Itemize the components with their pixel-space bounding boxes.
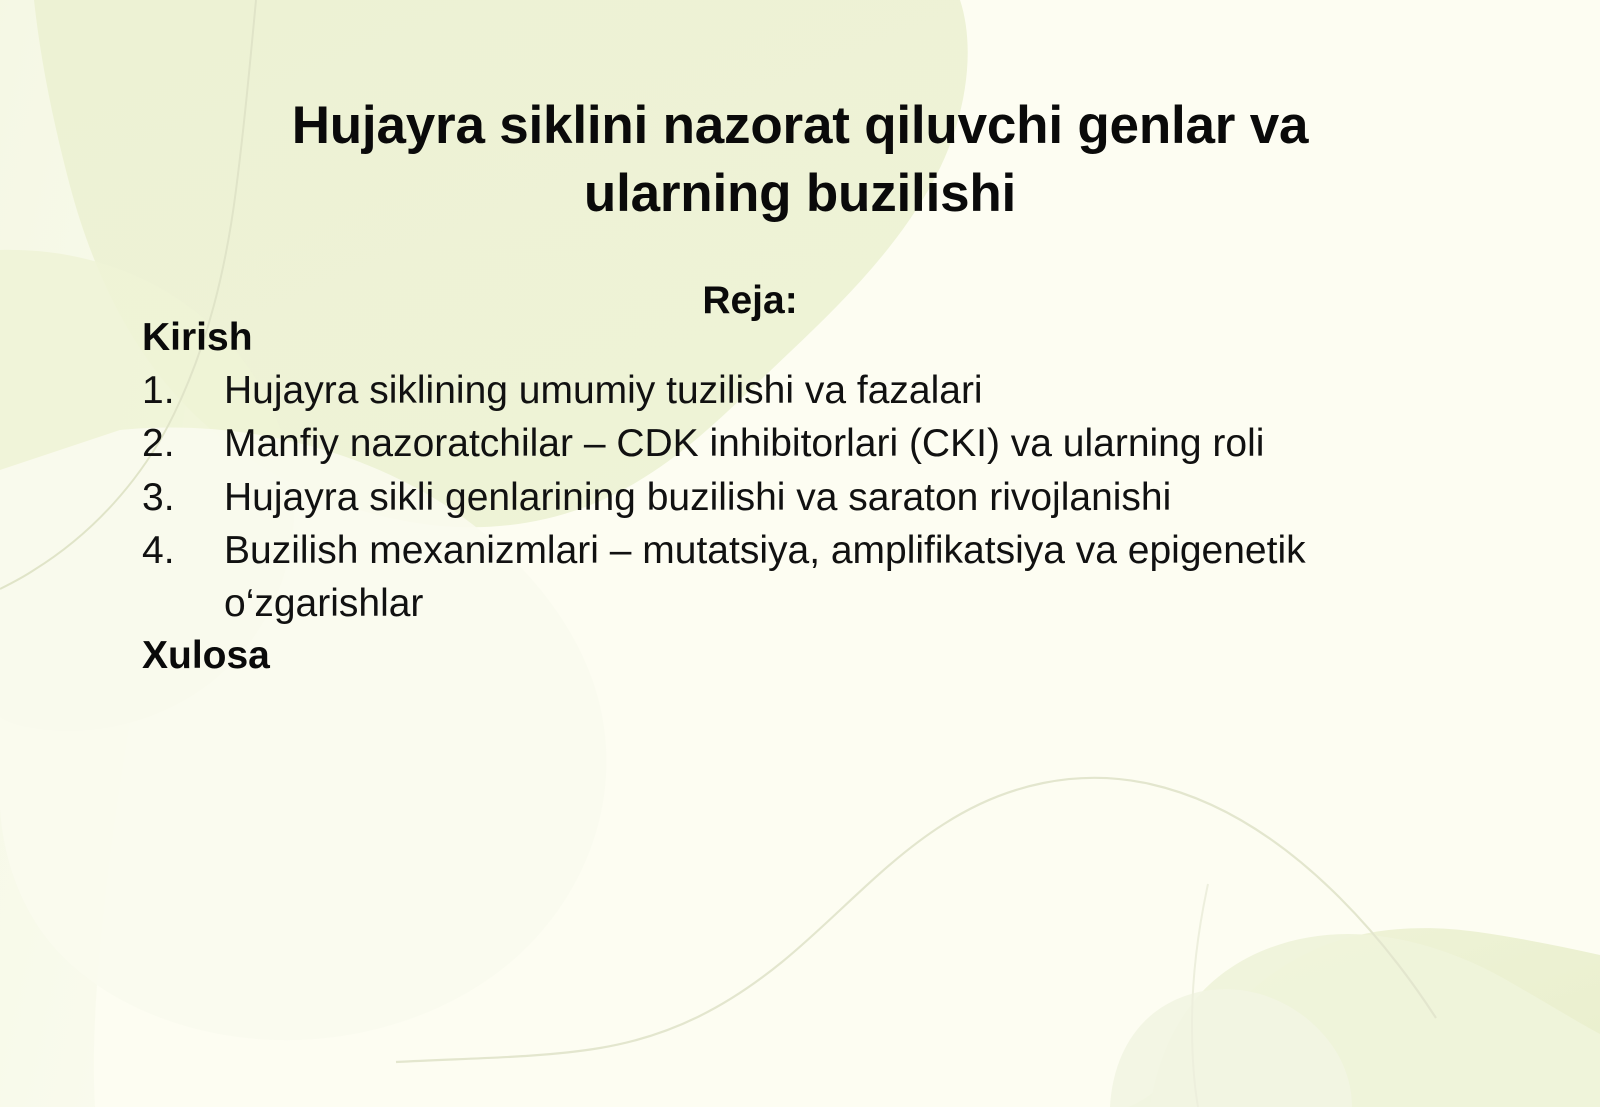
list-item: 1. Hujayra siklining umumiy tuzilishi va… (142, 365, 1402, 417)
list-item-number: 1. (142, 365, 224, 417)
list-item-text: Manfiy nazoratchilar – CDK inhibitorlari… (224, 418, 1344, 470)
agenda-list: 1. Hujayra siklining umumiy tuzilishi va… (142, 365, 1402, 630)
presentation-slide: Hujayra siklini nazorat qiluvchi genlar … (0, 0, 1600, 1107)
list-item-number: 4. (142, 525, 224, 577)
list-item: 3. Hujayra sikli genlarining buzilishi v… (142, 472, 1402, 524)
agenda-lead-kirish: Kirish (142, 313, 1402, 363)
agenda-tail-xulosa: Xulosa (142, 631, 1402, 681)
list-item-number: 3. (142, 472, 224, 524)
list-item-text: Hujayra sikli genlarining buzilishi va s… (224, 472, 1344, 524)
agenda-block: Kirish 1. Hujayra siklining umumiy tuzil… (142, 313, 1402, 681)
list-item-number: 2. (142, 418, 224, 470)
list-item: 4. Buzilish mexanizmlari – mutatsiya, am… (142, 525, 1402, 630)
list-item-text: Buzilish mexanizmlari – mutatsiya, ampli… (224, 525, 1344, 630)
list-item: 2. Manfiy nazoratchilar – CDK inhibitorl… (142, 418, 1402, 470)
slide-content: Hujayra siklini nazorat qiluvchi genlar … (0, 0, 1600, 1107)
list-item-text: Hujayra siklining umumiy tuzilishi va fa… (224, 365, 1344, 417)
page-title: Hujayra siklini nazorat qiluvchi genlar … (240, 92, 1360, 230)
